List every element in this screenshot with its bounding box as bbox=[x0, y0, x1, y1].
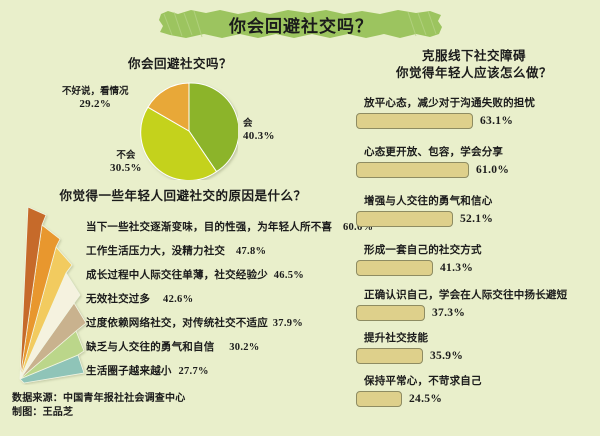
pie-slice-value-0: 40.3% bbox=[243, 130, 275, 142]
right-bar-label-5: 提升社交技能 bbox=[356, 330, 463, 345]
right-chart-title-line1: 克服线下社交障碍 bbox=[350, 48, 598, 65]
fan-row-label-2: 成长过程中人际交往单薄，社交经验少 bbox=[86, 270, 268, 281]
right-bar-item-4: 正确认识自己，学会在人际交往中扬长避短 37.3% bbox=[356, 287, 567, 321]
right-bar-label-4: 正确认识自己，学会在人际交往中扬长避短 bbox=[356, 287, 567, 302]
right-bar-value-5: 35.9% bbox=[430, 350, 463, 362]
footer-credits: 数据来源：中国青年报社社会调查中心 制图：王品芝 bbox=[12, 392, 185, 420]
right-bar-fill-6 bbox=[356, 391, 402, 407]
fan-row-label-4: 过度依赖网络社交，对传统社交不适应 bbox=[86, 318, 268, 329]
fan-row-0: 当下一些社交逐渐变味，目的性强，为年轻人所不喜 60.6% bbox=[86, 219, 373, 234]
fan-row-value-5: 30.2% bbox=[229, 342, 259, 353]
fan-row-value-4: 37.9% bbox=[273, 318, 303, 329]
fan-chart bbox=[14, 203, 94, 385]
pie-slice-label-buhui: 不会 30.5% bbox=[110, 150, 142, 174]
pie-slice-value-1: 30.5% bbox=[110, 162, 142, 174]
footer-credit: 制图：王品芝 bbox=[12, 406, 185, 420]
pie-slice-name-1: 不会 bbox=[116, 151, 135, 161]
footer-source: 数据来源：中国青年报社社会调查中心 bbox=[12, 392, 185, 406]
fan-row-value-1: 47.8% bbox=[236, 246, 266, 257]
right-bar-fill-5 bbox=[356, 348, 423, 364]
right-bar-label-3: 形成一套自己的社交方式 bbox=[356, 242, 482, 257]
pie-slice-label-buhaoshuo: 不好说，看情况 29.2% bbox=[62, 86, 129, 110]
fan-chart-title: 你觉得一些年轻人回避社交的原因是什么？ bbox=[18, 185, 348, 204]
fan-row-6: 生活圈子越来越小 27.7% bbox=[86, 363, 209, 378]
right-chart-title: 克服线下社交障碍 你觉得年轻人应该怎么做？ bbox=[350, 48, 598, 82]
right-bar-item-5: 提升社交技能 35.9% bbox=[356, 330, 463, 364]
fan-row-3: 无效社交过多 42.6% bbox=[86, 291, 193, 306]
fan-row-4: 过度依赖网络社交，对传统社交不适应 37.9% bbox=[86, 315, 303, 330]
right-bar-label-0: 放平心态，减少对于沟通失败的担忧 bbox=[356, 95, 535, 110]
right-bar-fill-3 bbox=[356, 260, 433, 276]
fan-row-label-1: 工作生活压力大，没精力社交 bbox=[86, 246, 225, 257]
fan-row-2: 成长过程中人际交往单薄，社交经验少 46.5% bbox=[86, 267, 304, 282]
fan-row-label-5: 缺乏与人交往的勇气和自信 bbox=[86, 342, 214, 353]
right-bar-fill-2 bbox=[356, 211, 453, 227]
right-bar-item-1: 心态更开放、包容，学会分享 61.0% bbox=[356, 144, 509, 178]
right-bar-item-6: 保持平常心，不苛求自己 24.5% bbox=[356, 373, 482, 407]
right-bar-value-3: 41.3% bbox=[440, 262, 473, 274]
fan-row-value-3: 42.6% bbox=[163, 294, 193, 305]
right-bar-value-2: 52.1% bbox=[460, 213, 493, 225]
right-bar-value-4: 37.3% bbox=[432, 307, 465, 319]
title-banner: 你会回避社交吗？ bbox=[158, 8, 444, 40]
right-chart-title-line2: 你觉得年轻人应该怎么做？ bbox=[350, 65, 598, 82]
right-bar-value-0: 63.1% bbox=[480, 115, 513, 127]
right-bar-label-2: 增强与人交往的勇气和信心 bbox=[356, 193, 493, 208]
fan-row-1: 工作生活压力大，没精力社交 47.8% bbox=[86, 243, 266, 258]
right-bar-item-0: 放平心态，减少对于沟通失败的担忧 63.1% bbox=[356, 95, 535, 129]
fan-row-label-3: 无效社交过多 bbox=[86, 294, 150, 305]
pie-slice-name-0: 会 bbox=[243, 119, 253, 129]
right-bar-value-1: 61.0% bbox=[476, 164, 509, 176]
right-bar-value-6: 24.5% bbox=[409, 393, 442, 405]
right-bar-fill-1 bbox=[356, 162, 469, 178]
pie-slice-value-2: 29.2% bbox=[62, 98, 129, 110]
pie-slice-label-hui: 会 40.3% bbox=[243, 118, 275, 142]
right-bar-fill-4 bbox=[356, 305, 425, 321]
right-bar-fill-0 bbox=[356, 113, 473, 129]
right-bar-label-6: 保持平常心，不苛求自己 bbox=[356, 373, 482, 388]
fan-row-label-0: 当下一些社交逐渐变味，目的性强，为年轻人所不喜 bbox=[86, 222, 332, 233]
fan-row-label-6: 生活圈子越来越小 bbox=[86, 366, 172, 377]
pie-chart-title: 你会回避社交吗？ bbox=[40, 53, 320, 72]
right-bar-item-2: 增强与人交往的勇气和信心 52.1% bbox=[356, 193, 493, 227]
fan-row-value-2: 46.5% bbox=[274, 270, 304, 281]
infographic-title: 你会回避社交吗？ bbox=[158, 8, 444, 40]
right-bar-item-3: 形成一套自己的社交方式 41.3% bbox=[356, 242, 482, 276]
pie-chart bbox=[140, 82, 238, 180]
right-bar-label-1: 心态更开放、包容，学会分享 bbox=[356, 144, 509, 159]
infographic-canvas: 你会回避社交吗？ 你会回避社交吗？ 会 40.3% 不会 30.5% bbox=[0, 0, 600, 436]
fan-row-5: 缺乏与人交往的勇气和自信 30.2% bbox=[86, 339, 260, 354]
pie-slice-name-2: 不好说，看情况 bbox=[62, 87, 129, 97]
fan-row-value-6: 27.7% bbox=[178, 366, 208, 377]
